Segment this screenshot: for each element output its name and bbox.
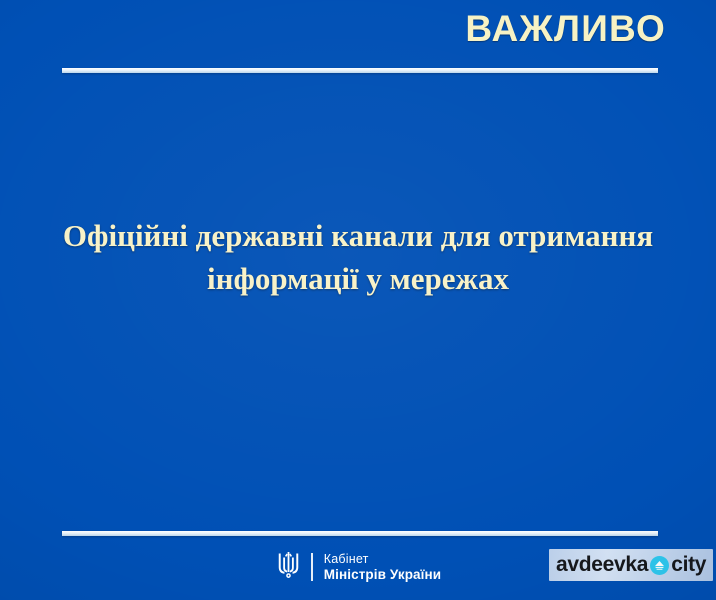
presentation-slide: ВАЖЛИВО Офіційні державні канали для отр… <box>0 0 716 600</box>
avdeevka-city-logo-icon <box>650 556 669 575</box>
logo-divider <box>311 553 313 581</box>
slide-title: Офіційні державні канали для отримання і… <box>0 214 716 300</box>
footer-organization-line-1: Кабінет <box>324 552 441 567</box>
divider-rule-top <box>62 68 658 73</box>
slide-title-line-1: Офіційні державні канали для отримання <box>40 214 676 257</box>
ukraine-trident-icon <box>275 551 302 582</box>
slide-kicker-important: ВАЖЛИВО <box>465 7 666 51</box>
footer-organization-name: Кабінет Міністрів України <box>322 552 441 582</box>
source-watermark: avdeevka city <box>549 549 713 581</box>
footer-organization-line-2: Міністрів України <box>324 567 441 582</box>
watermark-text-after: city <box>671 554 706 576</box>
slide-title-line-2: інформації у мережах <box>40 257 676 300</box>
watermark-text-before: avdeevka <box>556 554 648 576</box>
divider-rule-bottom <box>62 531 658 536</box>
